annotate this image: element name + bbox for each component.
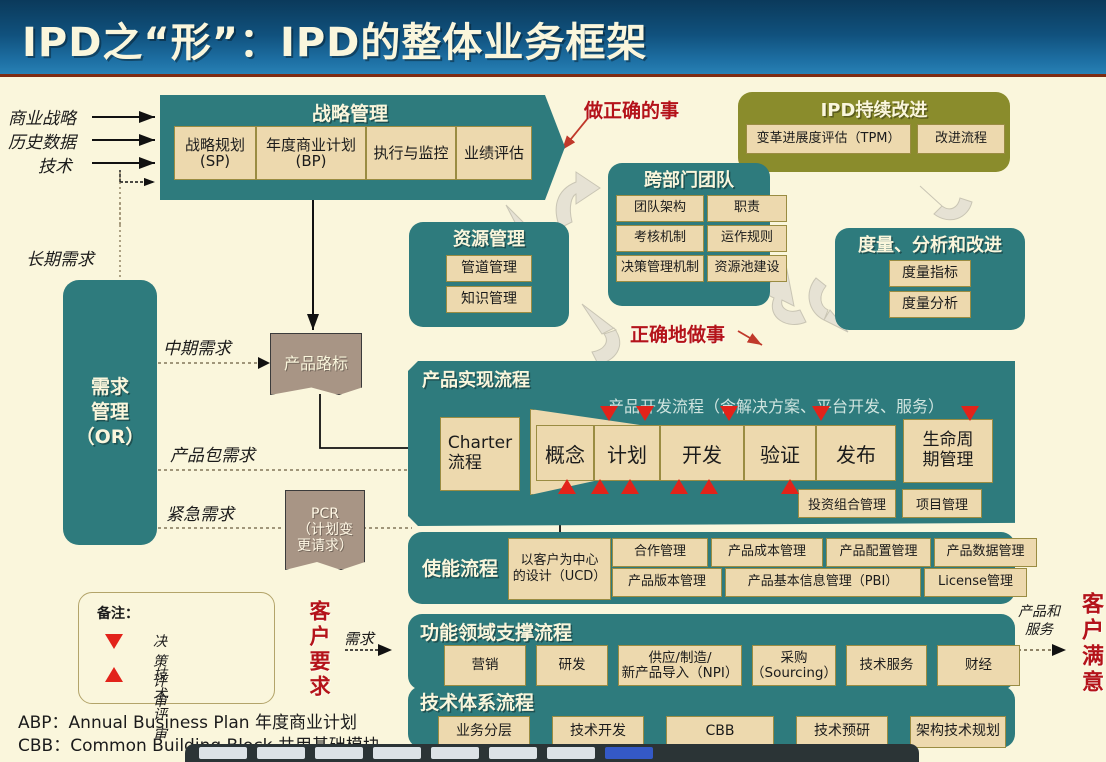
cft-item-2[interactable]: 考核机制 <box>616 225 704 252</box>
enabling-row-2: 产品版本管理产品基本信息管理（PBI）License管理 <box>612 568 1027 597</box>
func-item-label: 采购 <box>781 651 808 666</box>
strategy-item-0[interactable]: 战略规划(SP) <box>174 126 256 180</box>
decision-review-marker-icon-0 <box>600 406 618 421</box>
measurement-item-1[interactable]: 度量分析 <box>889 291 971 318</box>
functional-support-item-3[interactable]: 采购（Sourcing） <box>752 645 836 686</box>
taskbar-item[interactable] <box>257 747 305 759</box>
flow-label-product-service: 产品和服务 <box>1018 604 1060 639</box>
cft-item-5[interactable]: 资源池建设 <box>707 255 787 282</box>
functional-support-panel[interactable]: 功能领域支撑流程 营销研发供应/制造/新产品导入（NPI）采购（Sourcing… <box>408 614 1015 690</box>
title-bar: IPD之“形”：IPD的整体业务框架 <box>0 0 1106 77</box>
taskbar-item[interactable] <box>199 747 247 759</box>
ipd-improve-items: 变革进展度评估（TPM）改进流程 <box>746 124 1005 154</box>
lifecycle-management-box[interactable]: 生命周期管理 <box>903 419 993 483</box>
strategy-item-3[interactable]: 业绩评估 <box>456 126 532 180</box>
tech-review-marker-icon-1 <box>591 479 609 494</box>
ucd-box[interactable]: 以客户为中心的设计（UCD） <box>508 538 611 600</box>
strategy-item-sublabel: (BP) <box>295 153 326 169</box>
resource-items: 管道管理知识管理 <box>446 255 532 313</box>
legend-tech-marker: 技术评审 <box>105 667 123 686</box>
strategy-items: 战略规划(SP)年度商业计划(BP)执行与监控业绩评估 <box>174 126 532 180</box>
enabling-row2-item-2[interactable]: License管理 <box>924 568 1027 597</box>
measurement-title: 度量、分析和改进 <box>835 231 1025 257</box>
functional-support-items: 营销研发供应/制造/新产品导入（NPI）采购（Sourcing）技术服务财经 <box>444 645 1020 686</box>
annotation-do-things-right: 正确地做事 <box>630 320 725 347</box>
func-item-label: 财经 <box>965 658 992 673</box>
func-item-sublabel: （Sourcing） <box>751 666 837 681</box>
legend-header: 备注： <box>97 603 139 623</box>
functional-support-item-4[interactable]: 技术服务 <box>846 645 927 686</box>
strategy-management-panel[interactable]: 战略管理 战略规划(SP)年度商业计划(BP)执行与监控业绩评估 <box>160 95 565 200</box>
enabling-row2-item-0[interactable]: 产品版本管理 <box>612 568 722 597</box>
legend-decision-marker: 决策评审 <box>105 634 123 653</box>
flow-label-urgent: 紧急需求 <box>166 500 234 525</box>
enabling-row1-item-3[interactable]: 产品数据管理 <box>934 538 1037 567</box>
func-item-label: 技术服务 <box>860 658 914 673</box>
decision-review-marker-icon-3 <box>812 406 830 421</box>
taskbar-item[interactable] <box>373 747 421 759</box>
strategy-item-label: 战略规划 <box>185 137 245 153</box>
tech-review-marker-icon-4 <box>700 479 718 494</box>
func-item-sublabel: 新产品导入（NPI） <box>622 666 739 681</box>
ipd-improve-item-1[interactable]: 改进流程 <box>917 124 1005 154</box>
cft-item-4[interactable]: 决策管理机制 <box>616 255 704 282</box>
decision-review-triangle-icon <box>105 634 123 649</box>
charter-process-box[interactable]: Charter流程 <box>440 417 520 491</box>
tech-review-marker-icon-2 <box>621 479 639 494</box>
taskbar[interactable] <box>185 744 919 762</box>
title-underline <box>0 74 1106 77</box>
flow-label-long-term: 长期需求 <box>26 245 94 270</box>
ipd-improve-item-0[interactable]: 变革进展度评估（TPM） <box>746 124 911 154</box>
product-realization-title: 产品实现流程 <box>422 366 530 392</box>
tech-review-marker-icon-5 <box>781 479 799 494</box>
flow-label-demand: 需求 <box>344 628 374 649</box>
stage-1[interactable]: 计划 <box>594 425 660 481</box>
enabling-process-panel[interactable]: 使能流程 以客户为中心的设计（UCD） 合作管理产品成本管理产品配置管理产品数据… <box>408 532 1015 604</box>
tech-review-marker-icon-0 <box>558 479 576 494</box>
tech-review-triangle-icon <box>105 667 123 682</box>
cft-item-3[interactable]: 运作规则 <box>707 225 787 252</box>
resource-item-0[interactable]: 管道管理 <box>446 255 532 282</box>
taskbar-item-active[interactable] <box>605 747 653 759</box>
strategy-item-2[interactable]: 执行与监控 <box>366 126 456 180</box>
func-item-label: 供应/制造/ <box>648 651 711 666</box>
decision-review-marker-icon-1 <box>636 406 654 421</box>
functional-support-item-1[interactable]: 研发 <box>536 645 608 686</box>
functional-support-title: 功能领域支撑流程 <box>420 618 572 645</box>
func-item-label: 营销 <box>472 658 499 673</box>
annotation-do-right-things: 做正确的事 <box>584 96 679 123</box>
requirement-management-label: 需求管理（OR） <box>76 375 145 449</box>
page-title: IPD之“形”：IPD的整体业务框架 <box>22 10 647 68</box>
measurement-items: 度量指标度量分析 <box>889 260 971 318</box>
taskbar-item[interactable] <box>431 747 479 759</box>
enabling-row1-item-2[interactable]: 产品配置管理 <box>826 538 931 567</box>
strategy-management-title: 战略管理 <box>160 99 540 126</box>
cross-functional-team-panel[interactable]: 跨部门团队 团队架构职责考核机制运作规则决策管理机制资源池建设 <box>608 163 770 306</box>
func-item-label: 研发 <box>559 658 586 673</box>
tech-review-marker-icon-3 <box>670 479 688 494</box>
abbreviation-abp: ABP：Annual Business Plan 年度商业计划 <box>18 708 357 733</box>
realization-mini-1[interactable]: 项目管理 <box>902 489 982 518</box>
resource-management-panel[interactable]: 资源管理 管道管理知识管理 <box>409 222 569 327</box>
functional-support-item-5[interactable]: 财经 <box>937 645 1020 686</box>
technical-system-title: 技术体系流程 <box>420 688 534 715</box>
requirement-management-box[interactable]: 需求管理（OR） <box>63 280 157 545</box>
input-label-history-data: 历史数据 <box>8 128 76 153</box>
stage-4[interactable]: 发布 <box>816 425 896 481</box>
product-development-subtitle: 产品开发流程（含解决方案、平台开发、服务） <box>608 393 944 417</box>
enabling-row1-item-1[interactable]: 产品成本管理 <box>711 538 823 567</box>
product-roadmap-shape[interactable]: 产品路标 <box>270 333 362 395</box>
product-realization-panel[interactable]: 产品实现流程 产品开发流程（含解决方案、平台开发、服务） Charter流程 概… <box>408 361 1015 526</box>
enabling-row-1: 合作管理产品成本管理产品配置管理产品数据管理 <box>612 538 1037 567</box>
technical-system-item-4[interactable]: 架构技术规划 <box>910 716 1006 748</box>
enabling-row1-item-0[interactable]: 合作管理 <box>612 538 708 567</box>
ipd-improve-title: IPD持续改进 <box>738 96 1010 122</box>
flow-label-mid-term: 中期需求 <box>163 334 231 359</box>
functional-support-item-2[interactable]: 供应/制造/新产品导入（NPI） <box>618 645 742 686</box>
realization-mini-0[interactable]: 投资组合管理 <box>798 489 896 518</box>
cft-items: 团队架构职责考核机制运作规则决策管理机制资源池建设 <box>616 195 787 282</box>
resource-management-title: 资源管理 <box>409 225 569 251</box>
taskbar-item[interactable] <box>315 747 363 759</box>
strategy-item-sublabel: (SP) <box>200 153 230 169</box>
input-label-business-strategy: 商业战略 <box>8 104 76 129</box>
enabling-row2-item-1[interactable]: 产品基本信息管理（PBI） <box>725 568 921 597</box>
measurement-item-0[interactable]: 度量指标 <box>889 260 971 287</box>
technical-system-panel[interactable]: 技术体系流程 业务分层技术开发CBB技术预研架构技术规划 <box>408 686 1015 748</box>
annotation-customer-satisfaction: 客户满意 <box>1074 592 1106 696</box>
stage-0[interactable]: 概念 <box>536 425 594 481</box>
decision-review-marker-icon-2 <box>720 406 738 421</box>
measurement-analysis-panel[interactable]: 度量、分析和改进 度量指标度量分析 <box>835 228 1025 330</box>
flow-label-package: 产品包需求 <box>170 441 255 466</box>
annotation-customer-requirement: 客户要求 <box>304 600 334 700</box>
strategy-item-label: 年度商业计划 <box>266 137 356 153</box>
resource-item-1[interactable]: 知识管理 <box>446 286 532 313</box>
stage-2[interactable]: 开发 <box>660 425 744 481</box>
taskbar-item[interactable] <box>489 747 537 759</box>
functional-support-item-0[interactable]: 营销 <box>444 645 526 686</box>
enabling-process-title: 使能流程 <box>422 554 498 581</box>
cft-title: 跨部门团队 <box>608 166 770 192</box>
cft-item-0[interactable]: 团队架构 <box>616 195 704 222</box>
pcr-shape[interactable]: PCR（计划变更请求） <box>285 490 365 570</box>
taskbar-item[interactable] <box>547 747 595 759</box>
ipd-continuous-improvement-panel[interactable]: IPD持续改进 变革进展度评估（TPM）改进流程 <box>738 92 1010 172</box>
strategy-item-label: 执行与监控 <box>373 145 448 161</box>
decision-review-marker-icon-4 <box>961 406 979 421</box>
strategy-item-label: 业绩评估 <box>464 145 524 161</box>
stage-3[interactable]: 验证 <box>744 425 816 481</box>
input-label-technology: 技术 <box>38 152 72 177</box>
cft-item-1[interactable]: 职责 <box>707 195 787 222</box>
strategy-item-1[interactable]: 年度商业计划(BP) <box>256 126 366 180</box>
legend-box: 备注： 决策评审 技术评审 <box>78 592 275 704</box>
